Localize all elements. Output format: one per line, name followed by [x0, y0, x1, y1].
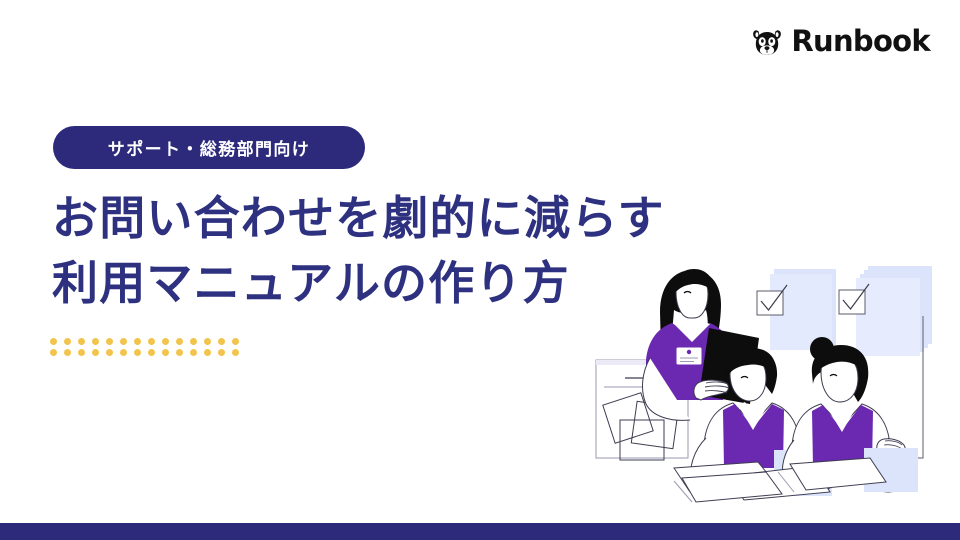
decorative-dot — [148, 349, 155, 356]
decorative-dot — [64, 349, 71, 356]
decorative-dot — [120, 349, 127, 356]
decorative-dot — [190, 338, 197, 345]
decorative-dot-grid — [50, 338, 246, 360]
brand-logo[interactable]: Runbook — [752, 27, 930, 56]
decorative-dot — [134, 349, 141, 356]
decorative-dot — [106, 349, 113, 356]
team-reviewing-documents-illustration — [578, 252, 950, 518]
decorative-dot — [232, 349, 239, 356]
decorative-dot — [232, 338, 239, 345]
decorative-dot — [120, 338, 127, 345]
decorative-dot — [204, 349, 211, 356]
dog-face-icon — [752, 28, 782, 56]
decorative-dot — [106, 338, 113, 345]
decorative-dot — [218, 338, 225, 345]
decorative-dot — [190, 349, 197, 356]
eyebrow-badge: サポート・総務部門向け — [53, 126, 365, 169]
decorative-dot — [134, 338, 141, 345]
decorative-dot — [204, 338, 211, 345]
decorative-dot — [218, 349, 225, 356]
decorative-dot — [64, 338, 71, 345]
checkbox-document-right — [839, 266, 932, 356]
decorative-dot — [92, 349, 99, 356]
decorative-dot — [176, 349, 183, 356]
footer-accent-bar — [0, 523, 960, 540]
decorative-dot — [162, 338, 169, 345]
decorative-dot — [162, 349, 169, 356]
decorative-dot — [50, 338, 57, 345]
brand-wordmark: Runbook — [791, 27, 930, 56]
headline-line-1: お問い合わせを劇的に減らす — [52, 186, 692, 251]
decorative-dot — [78, 338, 85, 345]
decorative-dot — [92, 338, 99, 345]
slide-canvas: Runbook サポート・総務部門向け お問い合わせを劇的に減らす 利用マニュア… — [0, 0, 960, 540]
decorative-dot — [176, 338, 183, 345]
eyebrow-badge-label: サポート・総務部門向け — [108, 135, 310, 160]
decorative-dot — [148, 338, 155, 345]
decorative-dot — [50, 349, 57, 356]
decorative-dot — [78, 349, 85, 356]
